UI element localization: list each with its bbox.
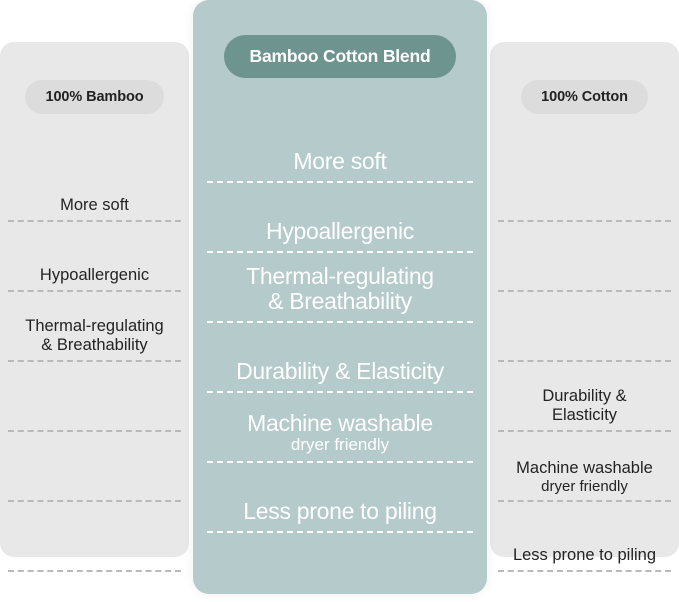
- table-row: Less prone to piling: [498, 502, 671, 572]
- table-row: Machine washable dryer friendly: [207, 393, 473, 463]
- table-row: More soft: [8, 152, 181, 222]
- feature-title: Less prone to piling: [243, 499, 436, 525]
- table-row: [498, 292, 671, 362]
- column-cotton: 100% Cotton Durability &Elasticity Machi…: [490, 42, 679, 557]
- feature-title: More soft: [293, 149, 386, 175]
- feature-title: Thermal-regulating& Breathability: [246, 264, 434, 316]
- table-row: Durability & Elasticity: [207, 323, 473, 393]
- table-row: Durability &Elasticity: [498, 362, 671, 432]
- feature-subtitle: dryer friendly: [291, 436, 389, 455]
- column-blend-rows: More soft Hypoallergenic Thermal-regulat…: [207, 113, 473, 533]
- column-blend-badge: Bamboo Cotton Blend: [224, 35, 457, 78]
- table-row: [498, 222, 671, 292]
- column-bamboo-badge-wrap: 100% Bamboo: [8, 42, 181, 152]
- column-cotton-rows: Durability &Elasticity Machine washable …: [498, 152, 671, 572]
- feature-title: Machine washable: [516, 459, 653, 478]
- feature-title: Durability & Elasticity: [236, 359, 444, 385]
- feature-title: Durability &Elasticity: [542, 387, 626, 425]
- column-cotton-badge: 100% Cotton: [521, 80, 648, 114]
- table-row: [498, 152, 671, 222]
- column-bamboo: 100% Bamboo More soft Hypoallergenic The…: [0, 42, 189, 557]
- table-row: Thermal-regulating& Breathability: [8, 292, 181, 362]
- feature-title: Less prone to piling: [513, 546, 656, 565]
- column-blend-badge-wrap: Bamboo Cotton Blend: [207, 0, 473, 113]
- table-row: Hypoallergenic: [207, 183, 473, 253]
- column-bamboo-badge: 100% Bamboo: [25, 80, 163, 114]
- feature-title: Hypoallergenic: [40, 266, 149, 285]
- feature-title: Thermal-regulating& Breathability: [25, 317, 163, 355]
- feature-subtitle: dryer friendly: [541, 478, 628, 495]
- table-row: Hypoallergenic: [8, 222, 181, 292]
- table-row: Thermal-regulating& Breathability: [207, 253, 473, 323]
- column-cotton-badge-wrap: 100% Cotton: [498, 42, 671, 152]
- table-row: [8, 362, 181, 432]
- column-bamboo-cotton-blend: Bamboo Cotton Blend More soft Hypoallerg…: [193, 0, 487, 594]
- fabric-comparison-chart: 100% Bamboo More soft Hypoallergenic The…: [0, 0, 679, 602]
- column-bamboo-rows: More soft Hypoallergenic Thermal-regulat…: [8, 152, 181, 572]
- table-row: Machine washable dryer friendly: [498, 432, 671, 502]
- feature-title: More soft: [60, 196, 129, 215]
- table-row: [8, 432, 181, 502]
- table-row: [8, 502, 181, 572]
- table-row: More soft: [207, 113, 473, 183]
- feature-title: Hypoallergenic: [266, 219, 414, 245]
- feature-title: Machine washable: [247, 411, 433, 437]
- table-row: Less prone to piling: [207, 463, 473, 533]
